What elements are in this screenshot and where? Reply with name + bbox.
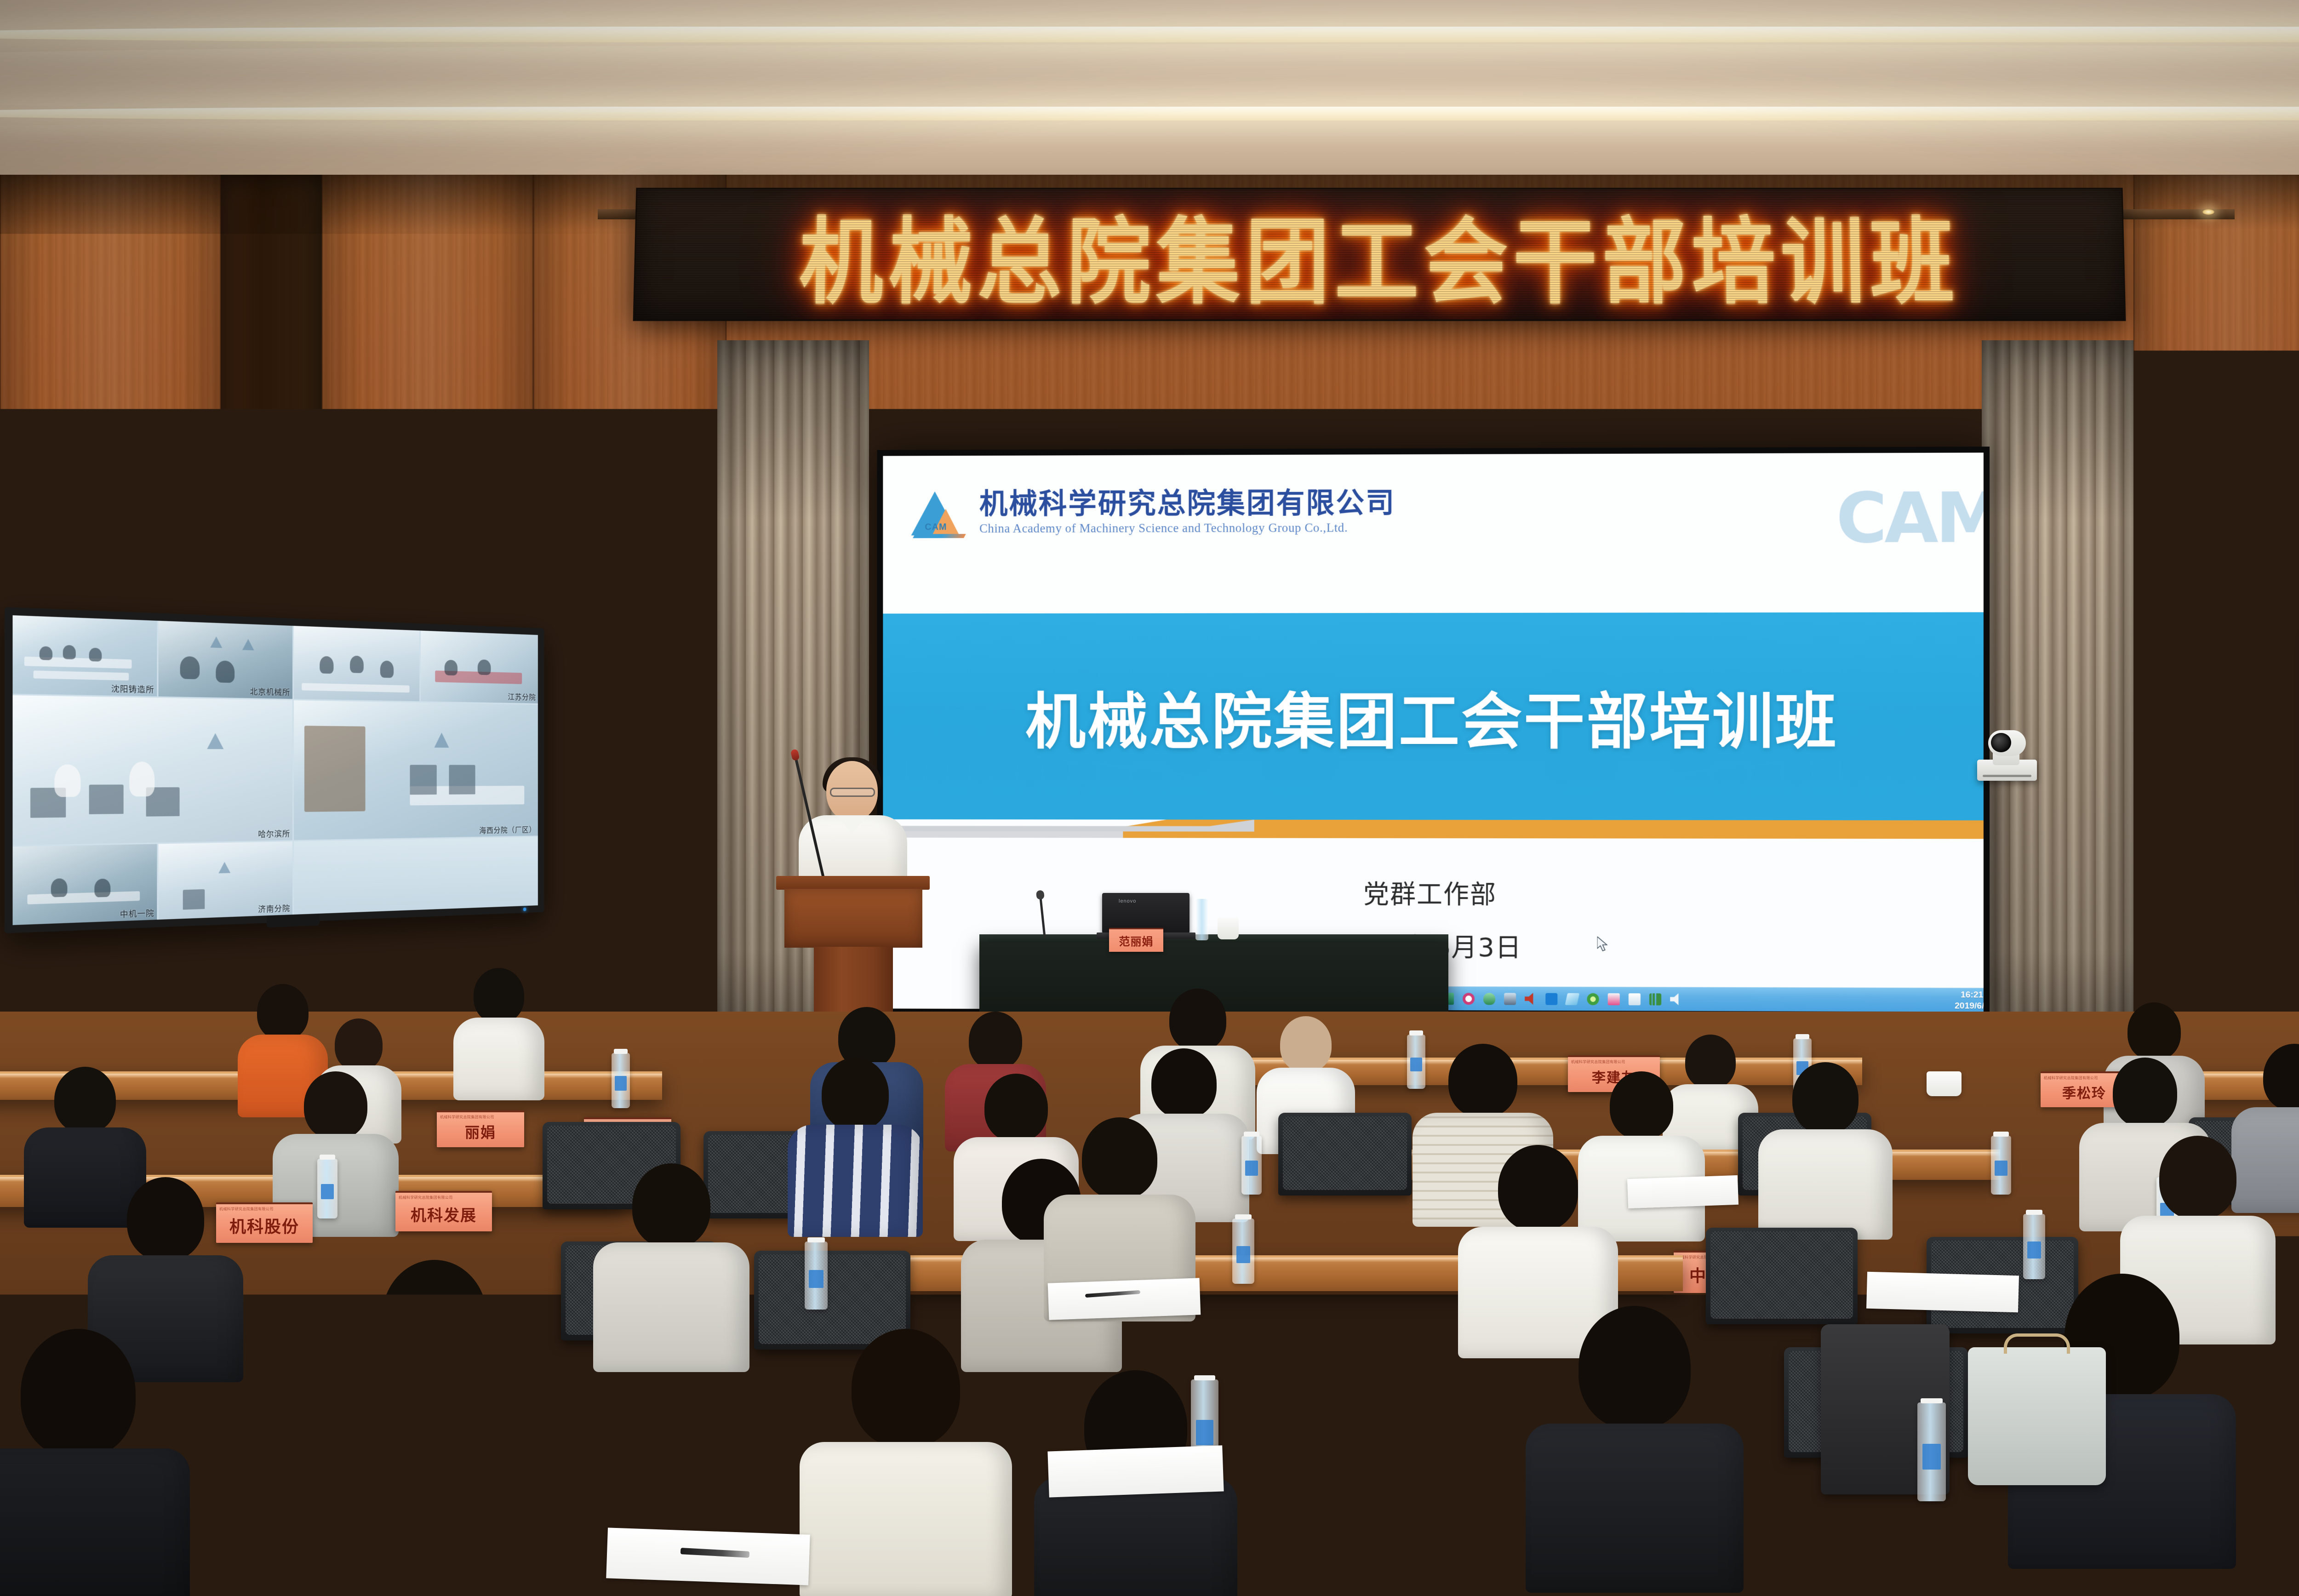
video-cell: 江苏分院 — [420, 630, 538, 704]
triangle-logo-icon: CAM — [911, 487, 970, 538]
office-chair — [1278, 1113, 1412, 1196]
video-cell-label: 海西分院（厂区） — [479, 824, 536, 835]
plus-circle-icon[interactable] — [1587, 993, 1599, 1005]
slide-title: 机械总院集团工会干部培训班 — [1025, 672, 1838, 761]
windows-taskbar[interactable]: 16:21 2019/6/3 — [1372, 986, 1984, 1012]
name-card-text: 机科股份 — [229, 1213, 299, 1237]
video-cell: 济南分院 — [158, 841, 292, 920]
paper-sheet — [1627, 1175, 1739, 1208]
presentation-slide: CAM 机械科学研究总院集团有限公司 China Academy of Mach… — [883, 452, 1984, 1012]
name-card: 机械科学研究总院集团有限公司 机科发展 — [395, 1191, 492, 1231]
slide-department: 党群工作部 — [1363, 874, 1497, 911]
video-cell-label: 沈阳铸造所 — [111, 682, 154, 695]
volume-icon[interactable] — [1525, 993, 1537, 1005]
water-bottle — [1195, 899, 1208, 940]
paper-sheet — [1048, 1278, 1201, 1320]
bluetooth-icon[interactable] — [1545, 993, 1557, 1005]
logo-cam-text: CAM — [925, 522, 947, 532]
video-wall-grid-left: 沈阳铸造所 北京机械所 江苏分院 — [12, 615, 538, 925]
display-icon[interactable] — [1504, 993, 1516, 1005]
paper-sheet — [606, 1527, 810, 1585]
attendee — [455, 968, 543, 1087]
video-cell: 北京机械所 — [158, 621, 292, 699]
water-bottle — [1232, 1218, 1254, 1284]
taskbar-clock[interactable]: 16:21 2019/6/3 — [1955, 990, 1984, 1012]
name-card: 机械科学研究总院集团有限公司 丽娟 — [437, 1110, 524, 1147]
name-card-org: 机械科学研究总院集团有限公司 — [1571, 1059, 1625, 1064]
video-cell: 海西分院（厂区） — [294, 700, 538, 840]
office-chair — [1306, 1379, 1499, 1494]
coffee-cup — [1927, 1071, 1962, 1096]
brackets-icon[interactable] — [1629, 993, 1641, 1005]
name-card-text: 丽娟 — [465, 1121, 496, 1142]
ceiling-light-cove-lower — [0, 107, 2299, 120]
name-card-text: 机科发展 — [411, 1203, 477, 1225]
water-bottle — [1991, 1136, 2011, 1195]
speaker-icon[interactable] — [1670, 993, 1682, 1005]
ceiling-spot-light — [2202, 209, 2214, 215]
attendee — [598, 1163, 745, 1361]
clock-date: 2019/6/3 — [1955, 1001, 1984, 1012]
paper-sheet — [1047, 1445, 1224, 1497]
attendee — [336, 1260, 533, 1517]
ceiling — [0, 0, 2299, 193]
mouse-cursor-icon — [1597, 937, 1609, 955]
ceiling-light-cove-upper — [0, 27, 2299, 42]
attendee — [1531, 1306, 1738, 1591]
attendee — [1761, 1062, 1890, 1232]
notes-icon[interactable] — [1565, 993, 1580, 1005]
name-card-org: 机械科学研究总院集团有限公司 — [399, 1195, 453, 1200]
ceiling-panel — [0, 44, 2299, 113]
company-logo: CAM 机械科学研究总院集团有限公司 China Academy of Mach… — [911, 486, 1395, 538]
video-cell — [294, 837, 538, 915]
water-bottle — [2023, 1214, 2045, 1279]
monitor-power-led-icon — [523, 908, 526, 911]
video-cell-label: 济南分院 — [258, 902, 290, 915]
camera-lens-icon — [1991, 733, 2011, 752]
photo-tool-icon[interactable] — [1608, 993, 1620, 1005]
attendee — [0, 1329, 184, 1596]
video-cell — [294, 626, 419, 701]
shield-check-icon[interactable] — [1483, 993, 1495, 1005]
video-cell-label: 中机一院 — [120, 906, 154, 920]
water-bottle — [317, 1421, 349, 1527]
water-bottle — [1917, 1402, 1946, 1501]
org-name-en: China Academy of Machinery Science and T… — [979, 521, 1395, 536]
video-cell: 哈尔滨所 — [12, 695, 292, 845]
paper-sheet — [2096, 1534, 2281, 1586]
name-card-text: 范丽娟 — [1119, 932, 1154, 949]
stage-curtain-right — [1982, 340, 2133, 1058]
water-bottle — [1347, 1384, 1382, 1499]
video-cell-label: 哈尔滨所 — [258, 827, 290, 839]
slide-title-band: 机械总院集团工会干部培训班 — [883, 612, 1984, 820]
podium-presenter — [798, 761, 908, 890]
wall-panel — [2133, 175, 2299, 1076]
conference-room-photo: 机械总院集团工会干部培训班 CAM 机械科学研究总院集团有限公司 China A… — [0, 0, 2299, 1596]
attendee — [805, 1329, 1007, 1596]
loading-ring-icon[interactable] — [1463, 993, 1475, 1005]
left-wall-monitor: 沈阳铸造所 北京机械所 江苏分院 — [5, 607, 544, 933]
clock-time: 16:21 — [1955, 990, 1984, 1001]
cam-watermark: CAM — [1836, 478, 1984, 559]
laptop-brand-logo: lenovo — [1119, 898, 1136, 904]
monitor-stand — [266, 914, 319, 928]
water-bottle — [805, 1241, 828, 1310]
paper-sheet — [1866, 1272, 2019, 1313]
signal-bars-icon[interactable] — [1649, 993, 1661, 1005]
handbag — [1968, 1347, 2106, 1485]
ptz-conference-camera-icon — [1977, 729, 2037, 781]
led-banner-text: 机械总院集团工会干部培训班 — [798, 188, 1960, 321]
water-bottle — [317, 1159, 337, 1218]
attendee — [791, 1058, 920, 1228]
water-bottle — [1241, 1136, 1262, 1195]
video-cell: 中机一院 — [12, 844, 156, 925]
name-card-stage: 范丽娟 — [1109, 928, 1163, 952]
video-cell: 沈阳铸造所 — [12, 615, 156, 697]
water-bottle — [612, 1053, 630, 1108]
paper-cup — [1218, 917, 1239, 939]
org-name-cn: 机械科学研究总院集团有限公司 — [979, 488, 1395, 519]
led-banner: 机械总院集团工会干部培训班 — [633, 188, 2126, 321]
slide-header: CAM 机械科学研究总院集团有限公司 China Academy of Mach… — [883, 452, 1984, 613]
name-card-org: 机械科学研究总院集团有限公司 — [440, 1115, 494, 1120]
glasses-icon — [830, 788, 875, 797]
video-cell-label: 江苏分院 — [508, 691, 536, 702]
video-cell-label: 北京机械所 — [250, 685, 291, 698]
